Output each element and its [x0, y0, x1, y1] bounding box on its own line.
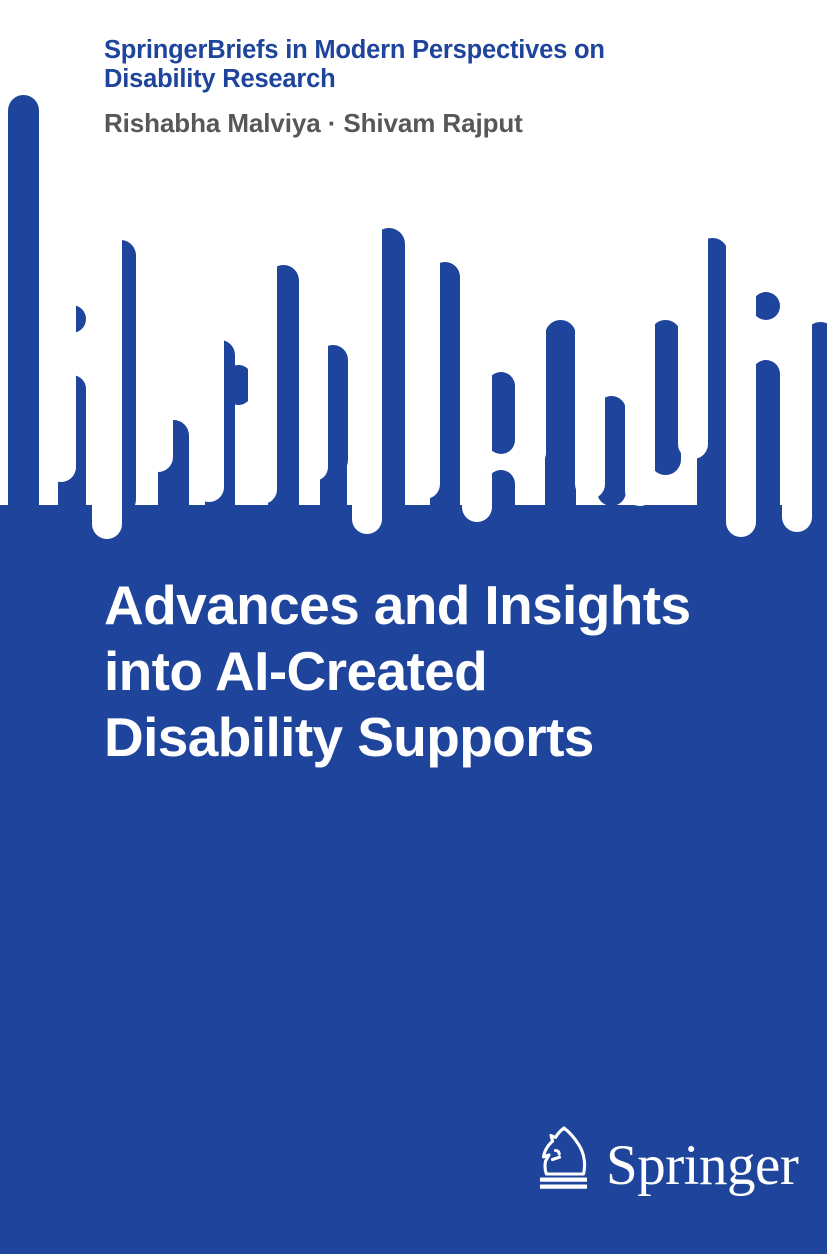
series-title: SpringerBriefs in Modern Perspectives on… [104, 36, 724, 94]
publisher-logo: Springer [534, 1114, 754, 1194]
title-block: Advances and Insights into AI-Created Di… [104, 572, 764, 770]
publisher-name: Springer [606, 1138, 798, 1194]
springer-knight-icon [534, 1122, 596, 1194]
author-line: Rishabha Malviya · Shivam Rajput [104, 108, 724, 139]
page-title: Advances and Insights into AI-Created Di… [104, 572, 764, 770]
book-cover: SpringerBriefs in Modern Perspectives on… [0, 0, 827, 1254]
header-block: SpringerBriefs in Modern Perspectives on… [104, 36, 724, 139]
